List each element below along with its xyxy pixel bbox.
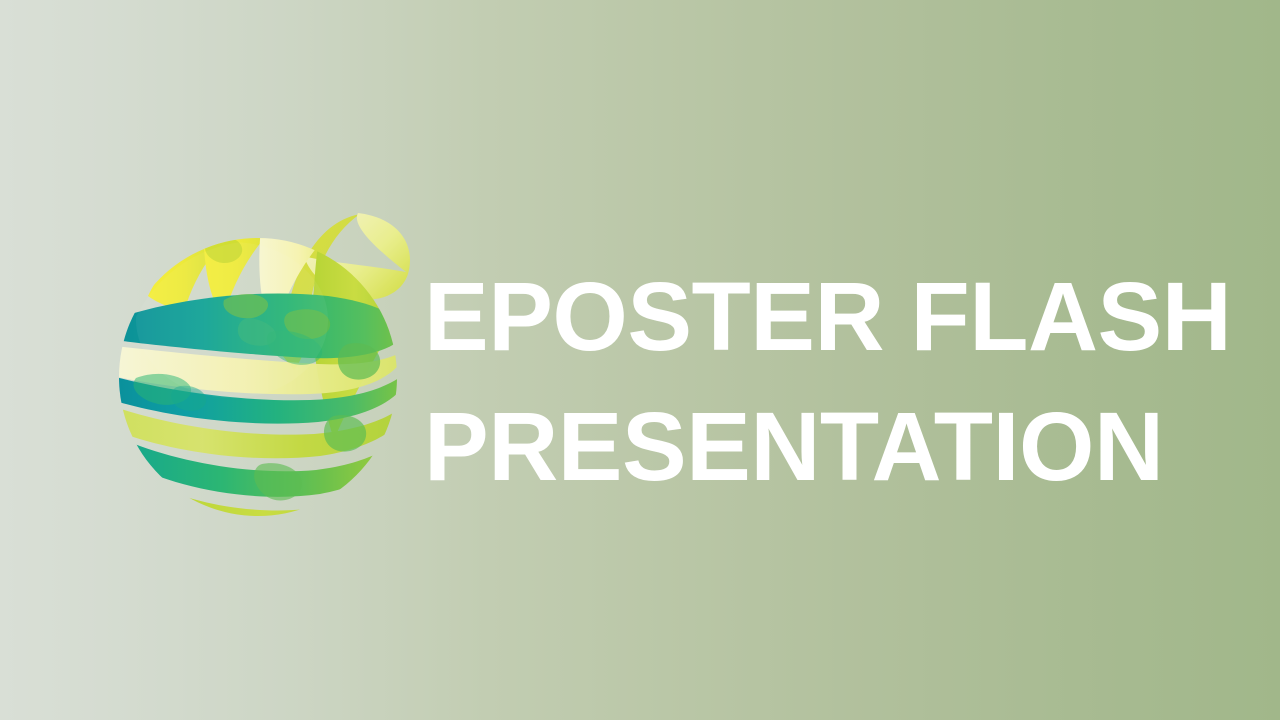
logo xyxy=(112,200,432,520)
title-slide: EPOSTER FLASH PRESENTATION xyxy=(0,0,1280,720)
spiral-globe-leaf-icon xyxy=(112,200,432,520)
title-line-1: EPOSTER FLASH xyxy=(424,252,1214,382)
title-line-2: PRESENTATION xyxy=(424,382,1214,512)
globe-sheen xyxy=(136,242,328,398)
page-title: EPOSTER FLASH PRESENTATION xyxy=(424,252,1214,512)
